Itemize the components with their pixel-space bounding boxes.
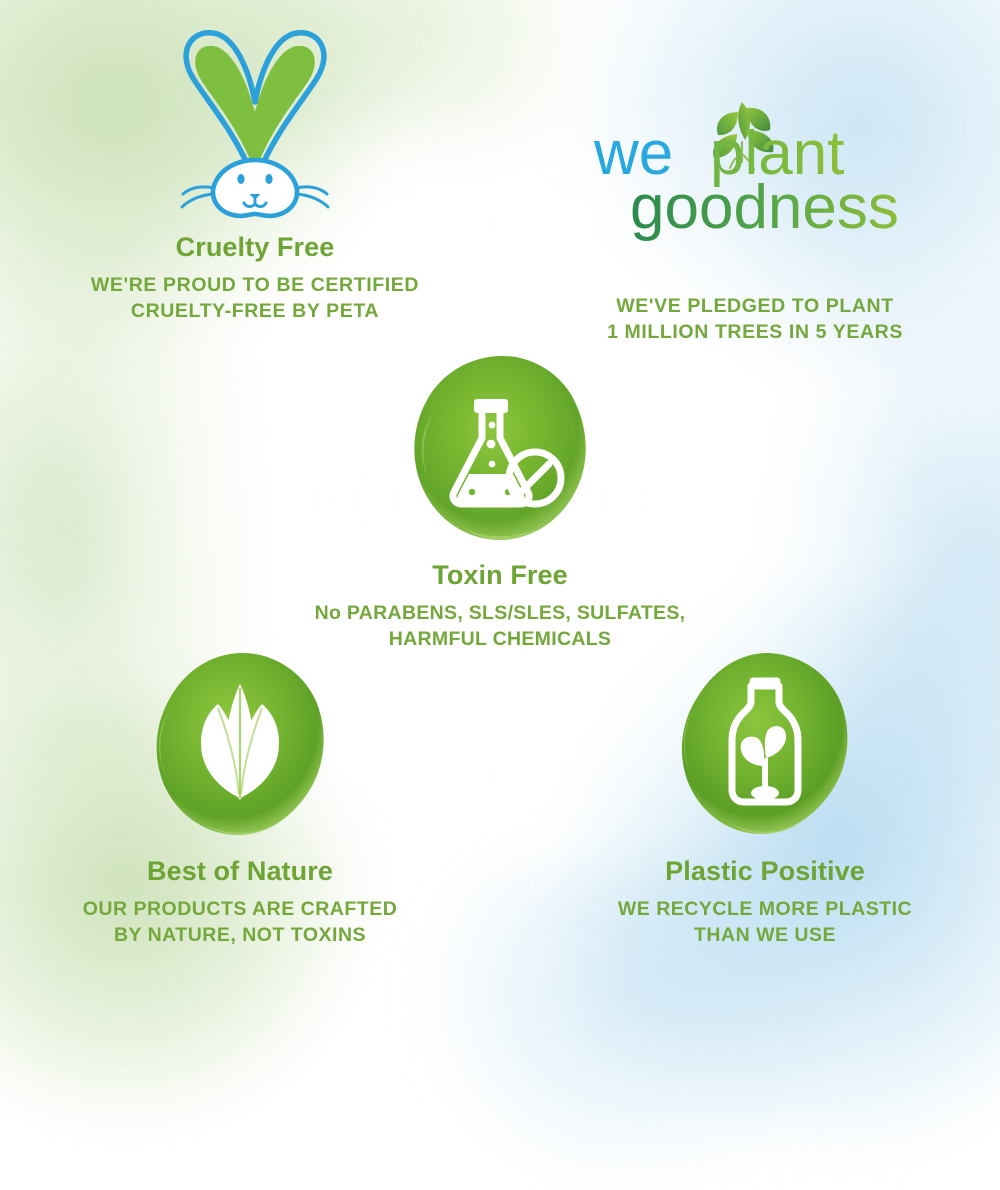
- badge-cruelty-free: Cruelty Free WE'RE PROUD TO BE CERTIFIED…: [20, 22, 490, 324]
- badge-subtitle-line: 1 MILLION TREES IN 5 YEARS: [520, 320, 990, 346]
- badge-subtitle: OUR PRODUCTS ARE CRAFTED BY NATURE, NOT …: [15, 897, 465, 948]
- badge-subtitle-line: No PARABENS, SLS/SLES, SULFATES,: [285, 601, 715, 627]
- watercolor-disc: [414, 356, 585, 540]
- flask-bubble: [489, 422, 496, 429]
- flask-no-toxins-icon: [404, 352, 596, 544]
- badge-subtitle-line: BY NATURE, NOT TOXINS: [15, 923, 465, 949]
- badge-best-of-nature: Best of Nature OUR PRODUCTS ARE CRAFTED …: [15, 648, 465, 948]
- badge-subtitle: WE'RE PROUD TO BE CERTIFIED CRUELTY-FREE…: [20, 273, 490, 324]
- badge-title: Plastic Positive: [540, 856, 990, 888]
- badge-toxin-free: Toxin Free No PARABENS, SLS/SLES, SULFAT…: [285, 352, 715, 652]
- badge-subtitle: No PARABENS, SLS/SLES, SULFATES, HARMFUL…: [285, 601, 715, 652]
- badge-title: Best of Nature: [15, 856, 465, 888]
- badge-subtitle-line: CRUELTY-FREE BY PETA: [20, 299, 490, 325]
- flask-bubble: [487, 440, 496, 449]
- flask-bubble: [469, 489, 475, 495]
- badge-we-plant-goodness: we plant goodness WE'VE PLEDGED TO PLANT…: [520, 96, 990, 345]
- badge-subtitle-line: OUR PRODUCTS ARE CRAFTED: [15, 897, 465, 923]
- bottle-with-sprout-icon: [669, 648, 861, 840]
- badge-subtitle-line: WE'VE PLEDGED TO PLANT: [520, 294, 990, 320]
- flask-neck-cap: [474, 399, 508, 413]
- badge-subtitle-line: THAN WE USE: [540, 923, 990, 949]
- badge-subtitle: WE'VE PLEDGED TO PLANT 1 MILLION TREES I…: [520, 294, 990, 345]
- badge-subtitle-line: WE RECYCLE MORE PLASTIC: [540, 897, 990, 923]
- badge-plastic-positive: Plastic Positive WE RECYCLE MORE PLASTIC…: [540, 648, 990, 948]
- we-plant-goodness-logo: we plant goodness: [590, 96, 920, 246]
- three-leaves-icon: [144, 648, 336, 840]
- logo-word-goodness: goodness: [630, 173, 899, 242]
- badge-subtitle-line: WE'RE PROUD TO BE CERTIFIED: [20, 273, 490, 299]
- badge-subtitle: WE RECYCLE MORE PLASTIC THAN WE USE: [540, 897, 990, 948]
- flask-bubble: [489, 461, 496, 468]
- badge-title: Toxin Free: [285, 560, 715, 592]
- peta-cruelty-free-bunny-icon: [151, 22, 359, 222]
- badge-title: Cruelty Free: [20, 232, 490, 264]
